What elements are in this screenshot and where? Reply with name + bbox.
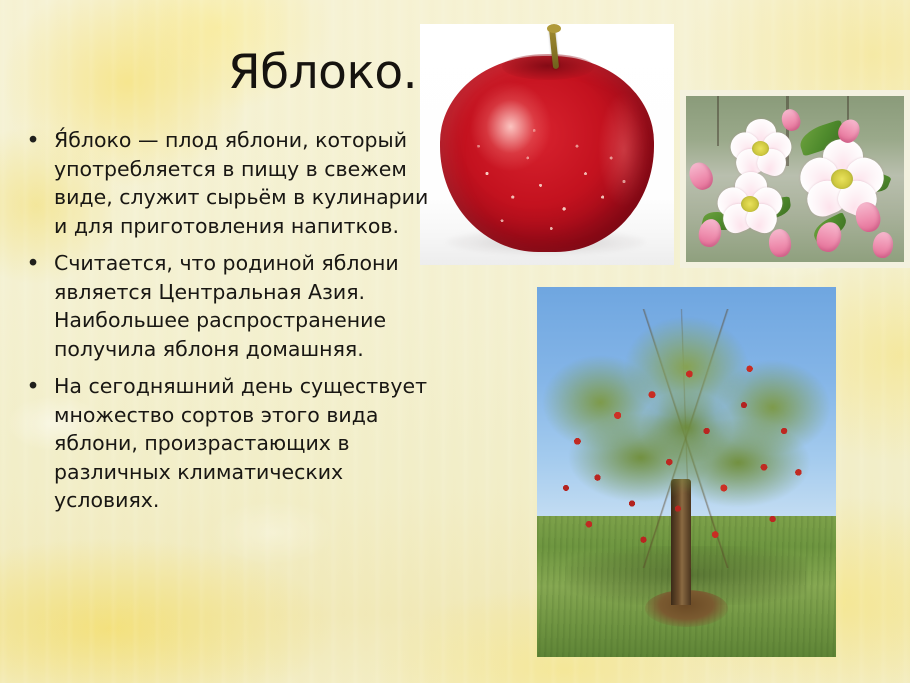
image-apple-tree bbox=[537, 287, 836, 657]
presentation-slide: Яблоко. • Я́блоко — плод яблони, который… bbox=[0, 0, 910, 683]
flower-bud bbox=[767, 228, 792, 258]
slide-title: Яблоко. bbox=[228, 48, 417, 97]
bullet-text: Я́блоко — плод яблони, который употребля… bbox=[54, 126, 438, 240]
bullet-marker-icon: • bbox=[18, 249, 54, 279]
list-item: • Я́блоко — плод яблони, который употреб… bbox=[18, 126, 438, 240]
bullet-marker-icon: • bbox=[18, 126, 54, 156]
bullet-list: • Я́блоко — плод яблони, который употреб… bbox=[18, 126, 438, 524]
image-apple-blossom bbox=[680, 90, 910, 268]
apple-lenticel-specks bbox=[440, 56, 654, 252]
apple-stem-tip bbox=[547, 24, 561, 33]
blossom-flower bbox=[730, 119, 792, 177]
apple-body bbox=[440, 56, 654, 252]
blossom-photo-inner bbox=[686, 96, 904, 262]
blossom-flower bbox=[717, 172, 783, 234]
background-branch bbox=[717, 96, 719, 146]
image-apple-fruit bbox=[420, 24, 674, 265]
flower-bud bbox=[872, 231, 895, 260]
bullet-text: На сегодняшний день существует множество… bbox=[54, 372, 438, 515]
list-item: • На сегодняшний день существует множест… bbox=[18, 372, 438, 515]
apple-stem-well bbox=[502, 54, 594, 80]
bullet-marker-icon: • bbox=[18, 372, 54, 402]
bullet-text: Считается, что родиной яблони является Ц… bbox=[54, 249, 438, 363]
list-item: • Считается, что родиной яблони является… bbox=[18, 249, 438, 363]
tree-apples bbox=[543, 317, 830, 576]
flower-bud bbox=[686, 159, 717, 194]
